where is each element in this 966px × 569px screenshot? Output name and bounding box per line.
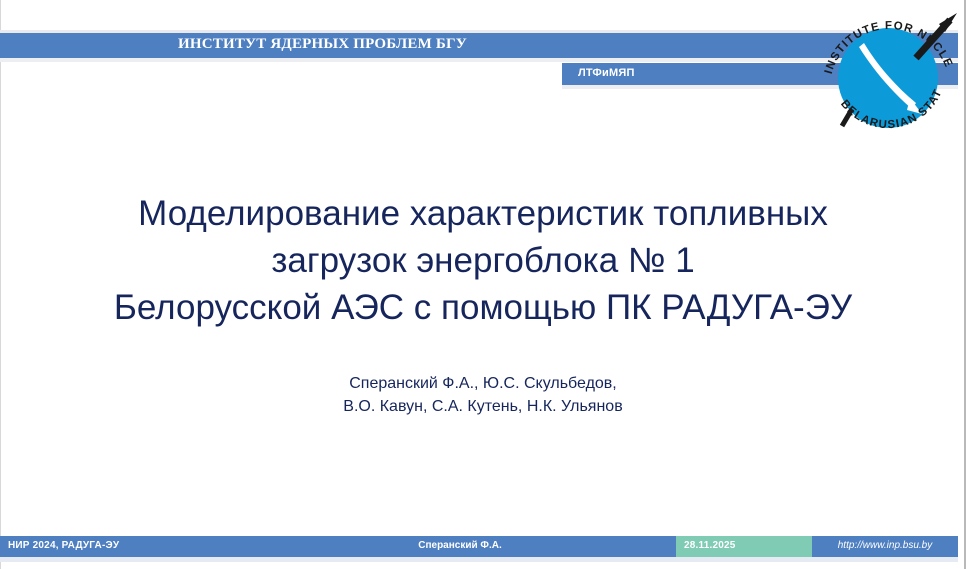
title-line-1: Моделирование характеристик топливных bbox=[58, 190, 908, 237]
footer-presenter: Сперанский Ф.А. bbox=[330, 540, 590, 551]
lab-label: ЛТФиМЯП bbox=[578, 67, 635, 79]
footer-date: 28.11.2025 bbox=[684, 540, 736, 551]
footer-url[interactable]: http://www.inp.bsu.by bbox=[812, 540, 958, 551]
slide-title: Моделирование характеристик топливных за… bbox=[58, 190, 908, 331]
author-line-1: Сперанский Ф.А., Ю.С. Скульбедов, bbox=[58, 372, 908, 395]
footer-project-label: НИР 2024, РАДУГА-ЭУ bbox=[8, 540, 119, 551]
presentation-slide: ИНСТИТУТ ЯДЕРНЫХ ПРОБЛЕМ БГУ ЛТФиМЯП INS bbox=[0, 0, 966, 569]
slide-left-border bbox=[0, 0, 1, 569]
author-list: Сперанский Ф.А., Ю.С. Скульбедов, В.О. К… bbox=[58, 372, 908, 418]
title-line-3: Белорусской АЭС с помощью ПК РАДУГА-ЭУ bbox=[58, 284, 908, 331]
footer-rule-bottom bbox=[0, 557, 958, 562]
inp-bsu-logo-icon: INSTITUTE FOR NUCLEAR PROBLEMS BELARUSIA… bbox=[812, 2, 964, 154]
institute-title: ИНСТИТУТ ЯДЕРНЫХ ПРОБЛЕМ БГУ bbox=[0, 36, 645, 53]
author-line-2: В.О. Кавун, С.А. Кутень, Н.К. Ульянов bbox=[58, 395, 908, 418]
title-line-2: загрузок энергоблока № 1 bbox=[58, 237, 908, 284]
